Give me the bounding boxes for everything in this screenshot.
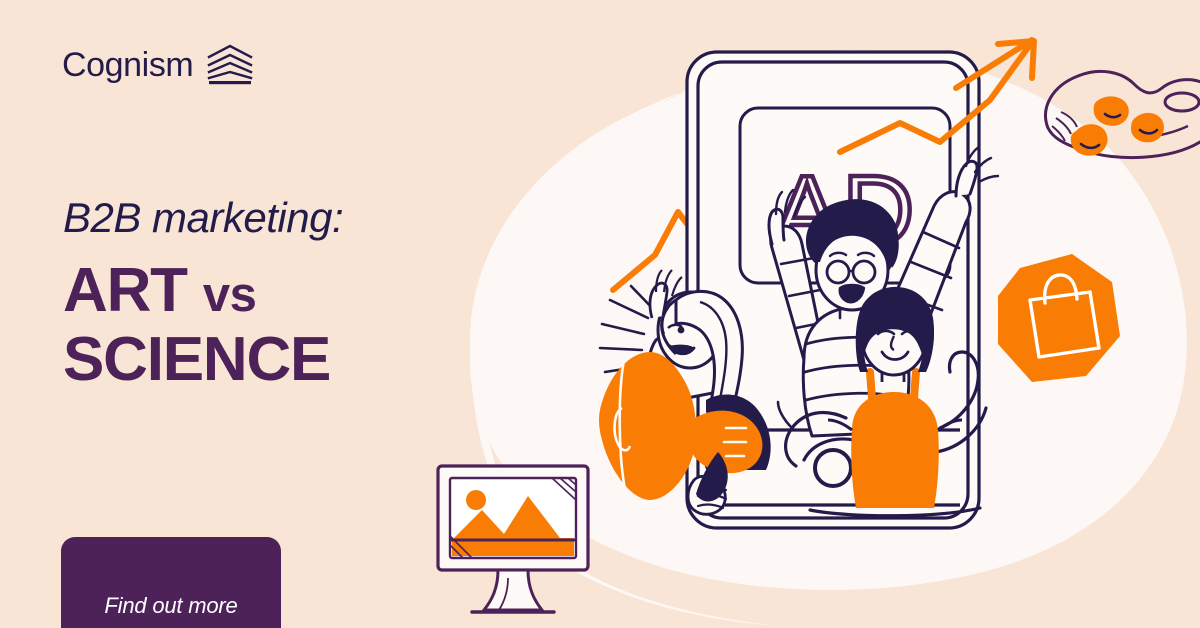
brand-logo[interactable]: Cognism — [62, 44, 253, 86]
title-vs: vs — [203, 268, 257, 322]
paint-palette-icon — [1046, 71, 1200, 157]
find-out-more-button[interactable]: Find out more — [61, 537, 281, 628]
shopping-bag-badge — [998, 254, 1120, 382]
hero-illustration: AD — [400, 0, 1200, 628]
chevron-stack-icon — [207, 44, 253, 86]
desktop-monitor-icon — [438, 466, 588, 612]
brand-name: Cognism — [62, 48, 193, 82]
banner-canvas: Cognism B2B marketing: ART vs SCIENCE Fi… — [0, 0, 1200, 628]
find-out-more-label: Find out more — [61, 566, 281, 619]
title-art: ART — [63, 256, 187, 325]
